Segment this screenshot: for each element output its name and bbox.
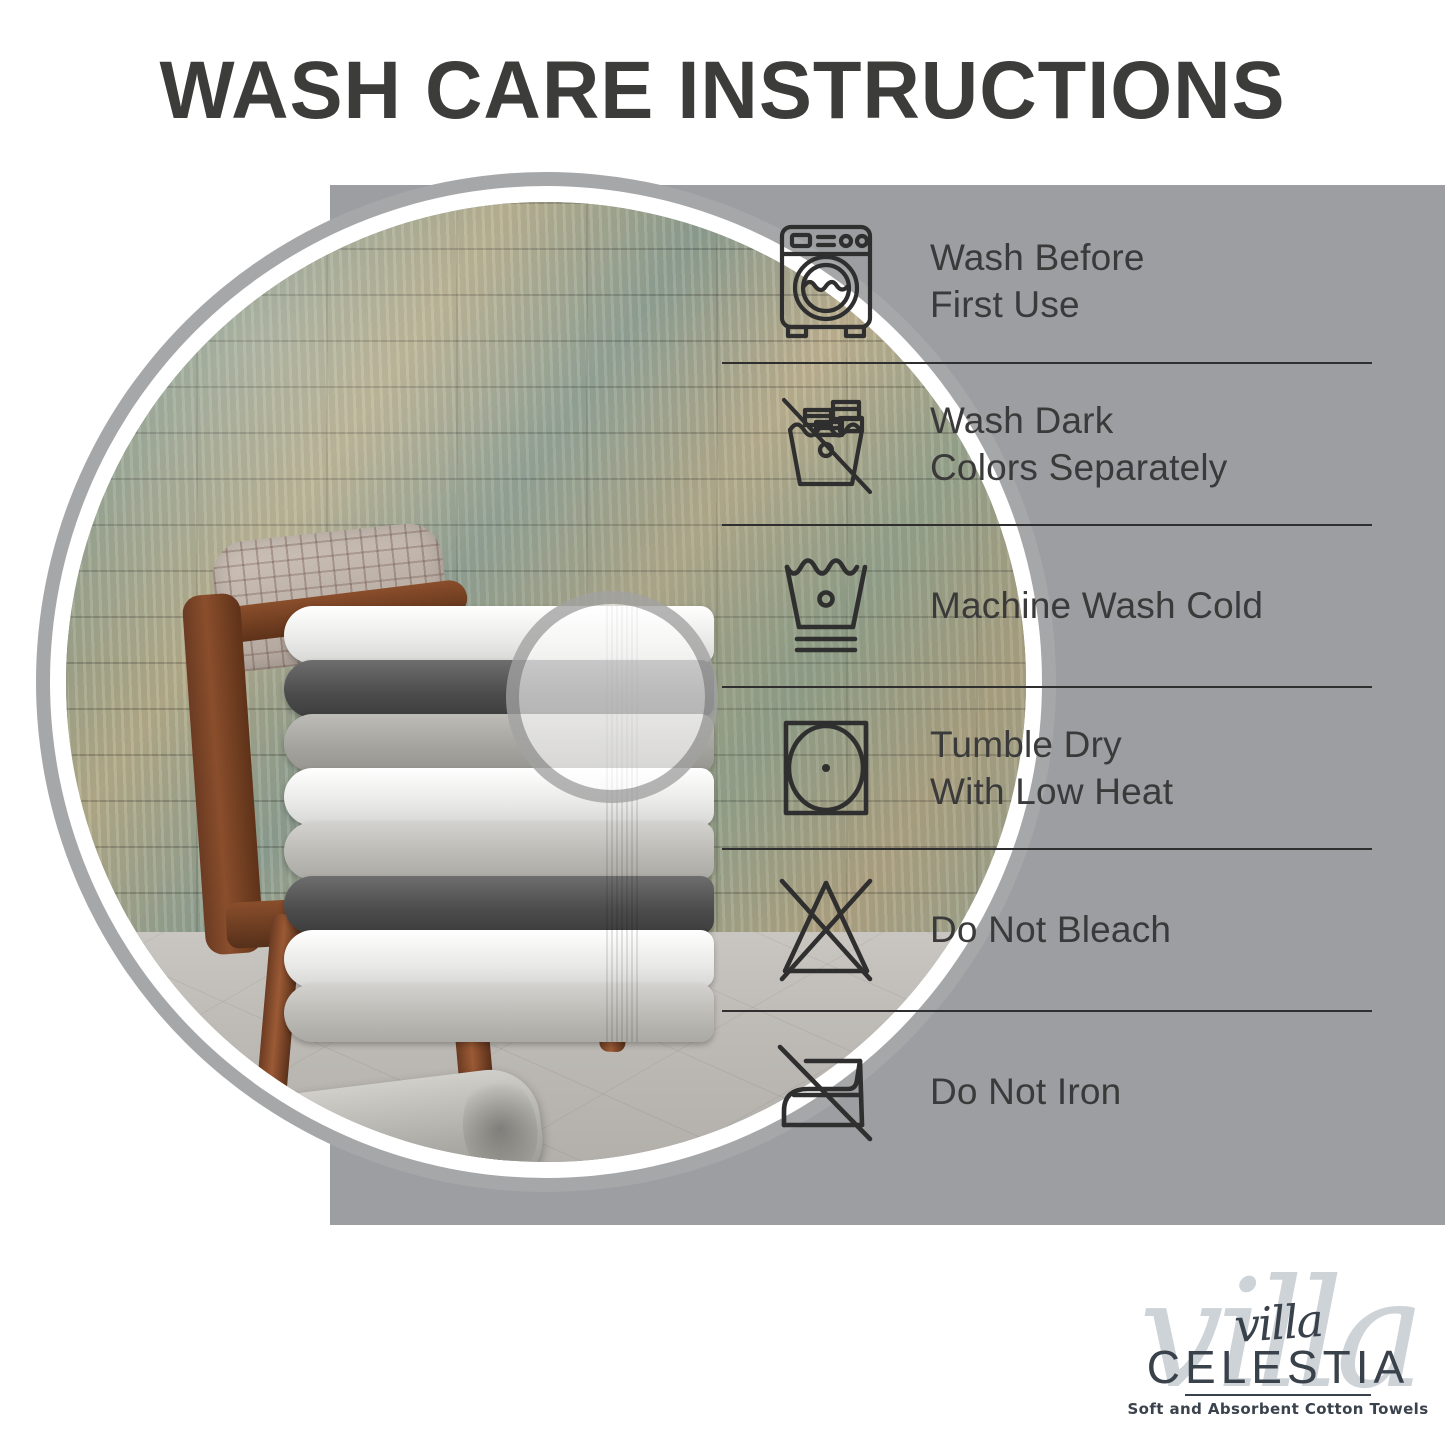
care-row-wash-before-first-use: Wash Before First Use — [722, 200, 1372, 362]
logo-tagline: Soft and Absorbent Cotton Towels — [1127, 1400, 1428, 1418]
folded-towel — [284, 876, 714, 934]
care-instruction-list: Wash Before First Use Wash Dark Colors S… — [722, 200, 1372, 1172]
care-row-label: Wash Dark Colors Separately — [930, 397, 1228, 492]
care-row-label: Machine Wash Cold — [930, 582, 1263, 629]
care-row-wash-dark-separately: Wash Dark Colors Separately — [722, 362, 1372, 524]
machine-wash-cold-tub-icon — [722, 555, 930, 657]
care-row-label: Tumble Dry With Low Heat — [930, 721, 1173, 816]
care-row-label: Wash Before First Use — [930, 234, 1145, 329]
do-not-bleach-triangle-icon — [722, 875, 930, 985]
washing-machine-icon — [722, 222, 930, 340]
brand-logo: villa villa CELESTIA Soft and Absorbent … — [1128, 1248, 1428, 1438]
page-title: WASH CARE INSTRUCTIONS — [22, 44, 1424, 138]
care-row-do-not-bleach: Do Not Bleach — [722, 848, 1372, 1010]
care-row-do-not-iron: Do Not Iron — [722, 1010, 1372, 1172]
logo-brand-name: CELESTIA — [1147, 1340, 1409, 1394]
care-row-machine-wash-cold: Machine Wash Cold — [722, 524, 1372, 686]
tumble-dry-low-heat-icon — [722, 715, 930, 821]
no-mixed-wash-basket-icon — [722, 388, 930, 500]
care-row-label: Do Not Iron — [930, 1068, 1121, 1115]
care-row-tumble-dry-low-heat: Tumble Dry With Low Heat — [722, 686, 1372, 848]
do-not-iron-icon — [722, 1039, 930, 1145]
care-row-label: Do Not Bleach — [930, 906, 1171, 953]
folded-towel — [284, 930, 714, 988]
logo-divider — [1185, 1394, 1371, 1396]
folded-towel — [284, 984, 714, 1042]
folded-towel — [284, 822, 714, 880]
decorative-overlay-circle — [506, 591, 718, 803]
